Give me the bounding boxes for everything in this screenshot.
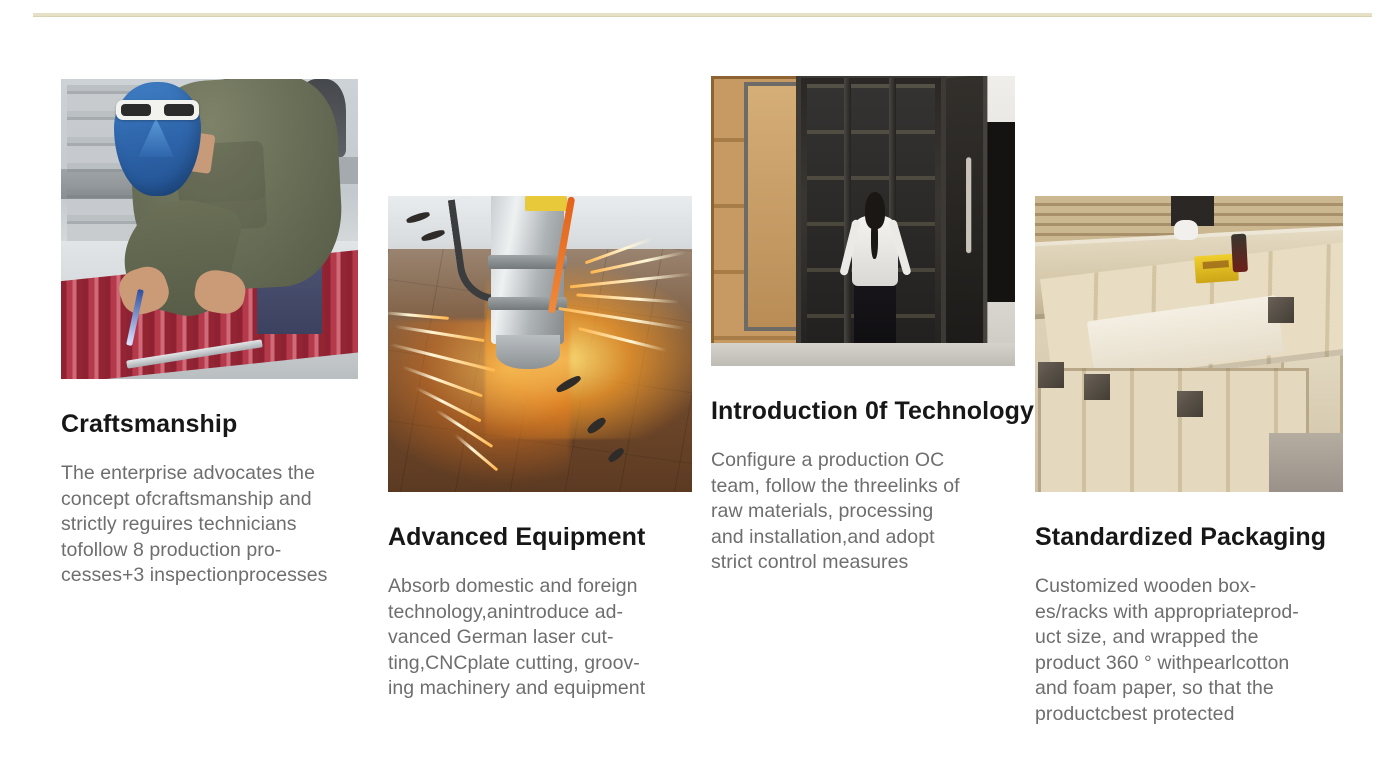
slag-piece — [421, 228, 446, 242]
visitor-hair — [865, 192, 886, 229]
body-line: uct size, and wrapped the — [1035, 625, 1343, 651]
warehouse-floor — [1269, 433, 1343, 492]
metal-corner-bracket — [1038, 362, 1064, 388]
card-body: The enterprise advocates the concept ofc… — [61, 461, 356, 589]
body-line: cesses+3 inspectionprocesses — [61, 563, 356, 589]
body-line: The enterprise advocates the — [61, 461, 356, 487]
feature-card-standardized-packaging: Standardized Packaging Customized wooden… — [1035, 196, 1345, 728]
card-body: Configure a production OC team, follow t… — [711, 448, 1011, 576]
card-body: Customized wooden box- es/racks with app… — [1035, 574, 1343, 728]
header-divider — [33, 13, 1372, 17]
card-title: Introduction 0f Technology — [711, 396, 1017, 426]
body-line: productcbest protected — [1035, 702, 1343, 728]
feature-card-craftsmanship: Craftsmanship The enterprise advocates t… — [61, 79, 361, 589]
dark-display-panel — [985, 122, 1015, 302]
safety-goggles-icon — [116, 100, 199, 120]
metal-corner-bracket — [1084, 374, 1110, 400]
showroom-visitor — [845, 192, 906, 360]
body-line: and installation,and adopt — [711, 525, 1011, 551]
body-line: technology,anintroduce ad- — [388, 600, 688, 626]
body-line: and foam paper, so that the — [1035, 676, 1343, 702]
feature-card-advanced-equipment: Advanced Equipment Absorb domestic and f… — [388, 196, 694, 702]
card-body: Absorb domestic and foreign technology,a… — [388, 574, 688, 702]
body-line: ing machinery and equipment — [388, 676, 688, 702]
technology-photo — [711, 76, 1015, 366]
body-line: strictly reguires technicians — [61, 512, 356, 538]
body-line: strict control measures — [711, 550, 1011, 576]
metal-corner-bracket — [1268, 297, 1294, 323]
card-title: Advanced Equipment — [388, 522, 694, 552]
body-line: team, follow the threelinks of — [711, 474, 1011, 500]
body-line: Customized wooden box- — [1035, 574, 1343, 600]
advanced-equipment-photo — [388, 196, 692, 492]
body-line: ting,CNCplate cutting, groov- — [388, 651, 688, 677]
body-line: tofollow 8 production pro- — [61, 538, 356, 564]
feature-card-introduction-of-technology: Introduction 0f Technology Configure a p… — [711, 76, 1017, 576]
packaging-photo — [1035, 196, 1343, 492]
body-line: Configure a production OC — [711, 448, 1011, 474]
body-line: product 360 ° withpearlcotton — [1035, 651, 1343, 677]
laser-warning-label — [525, 196, 568, 211]
body-line: raw materials, processing — [711, 499, 1011, 525]
metal-corner-bracket — [1177, 391, 1203, 417]
body-line: concept ofcraftsmanship and — [61, 487, 356, 513]
card-title: Craftsmanship — [61, 409, 361, 439]
power-drill — [1231, 234, 1248, 273]
showroom-floor — [711, 343, 1015, 366]
body-line: vanced German laser cut- — [388, 625, 688, 651]
craftsmanship-photo — [61, 79, 358, 379]
plastic-bag — [1174, 220, 1199, 241]
card-title: Standardized Packaging — [1035, 522, 1345, 552]
slag-piece — [406, 210, 431, 224]
body-line: Absorb domestic and foreign — [388, 574, 688, 600]
laser-cutting-head — [491, 196, 564, 344]
body-line: es/racks with appropriateprod- — [1035, 600, 1343, 626]
plywood-crate — [744, 82, 802, 331]
